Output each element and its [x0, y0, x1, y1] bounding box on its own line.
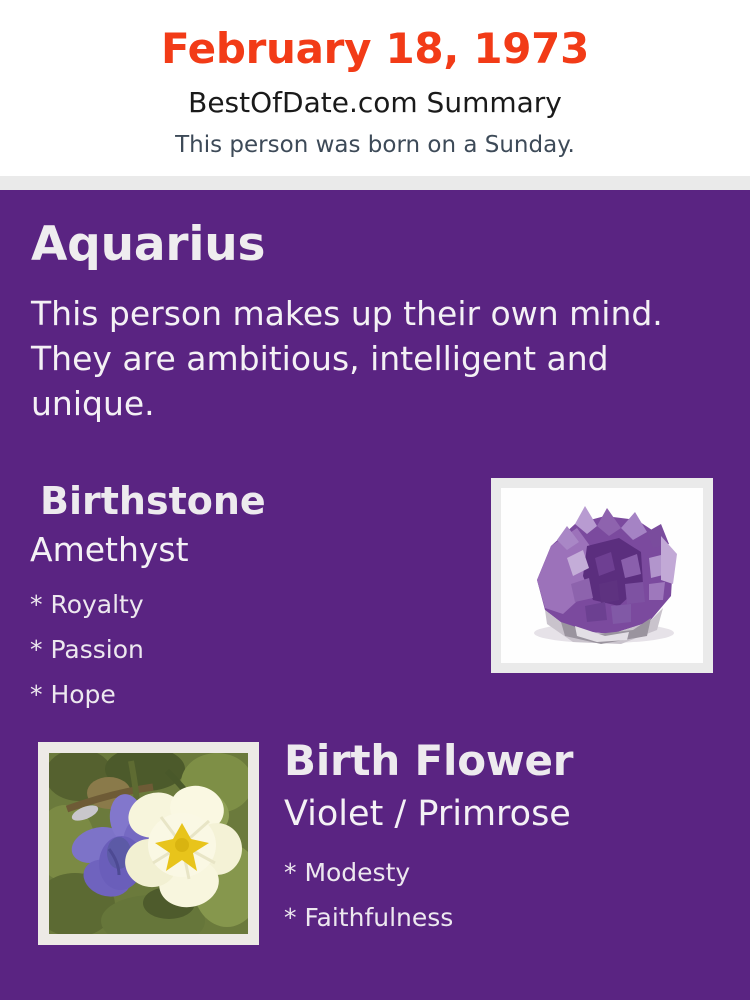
header-divider [0, 176, 750, 190]
page-title-date: February 18, 1973 [0, 23, 750, 75]
list-item: * Royalty [30, 582, 450, 627]
list-item: * Passion [30, 627, 450, 672]
birthstone-photo-frame [491, 478, 713, 673]
list-item: * Hope [30, 672, 450, 717]
birthstone-heading: Birthstone [40, 478, 266, 524]
site-name: BestOfDate.com Summary [0, 86, 750, 120]
birthstone-trait-list: * Royalty * Passion * Hope [30, 582, 450, 717]
birthflower-name: Violet / Primrose [284, 792, 571, 836]
zodiac-sign-title: Aquarius [31, 217, 265, 273]
amethyst-crystal-photo [501, 488, 703, 663]
birthflower-heading: Birth Flower [284, 735, 573, 787]
birth-day-of-week: This person was born on a Sunday. [0, 130, 750, 160]
details-panel: Aquarius This person makes up their own … [0, 190, 750, 1000]
birthflower-trait-list: * Modesty * Faithfulness [284, 850, 704, 940]
header: February 18, 1973 BestOfDate.com Summary… [0, 0, 750, 176]
zodiac-description: This person makes up their own mind. The… [31, 291, 677, 426]
list-item: * Faithfulness [284, 895, 704, 940]
birthstone-name: Amethyst [30, 529, 189, 571]
summary-card: February 18, 1973 BestOfDate.com Summary… [0, 0, 750, 1000]
violet-primrose-photo [49, 753, 248, 934]
list-item: * Modesty [284, 850, 704, 895]
birthflower-photo-frame [38, 742, 259, 945]
